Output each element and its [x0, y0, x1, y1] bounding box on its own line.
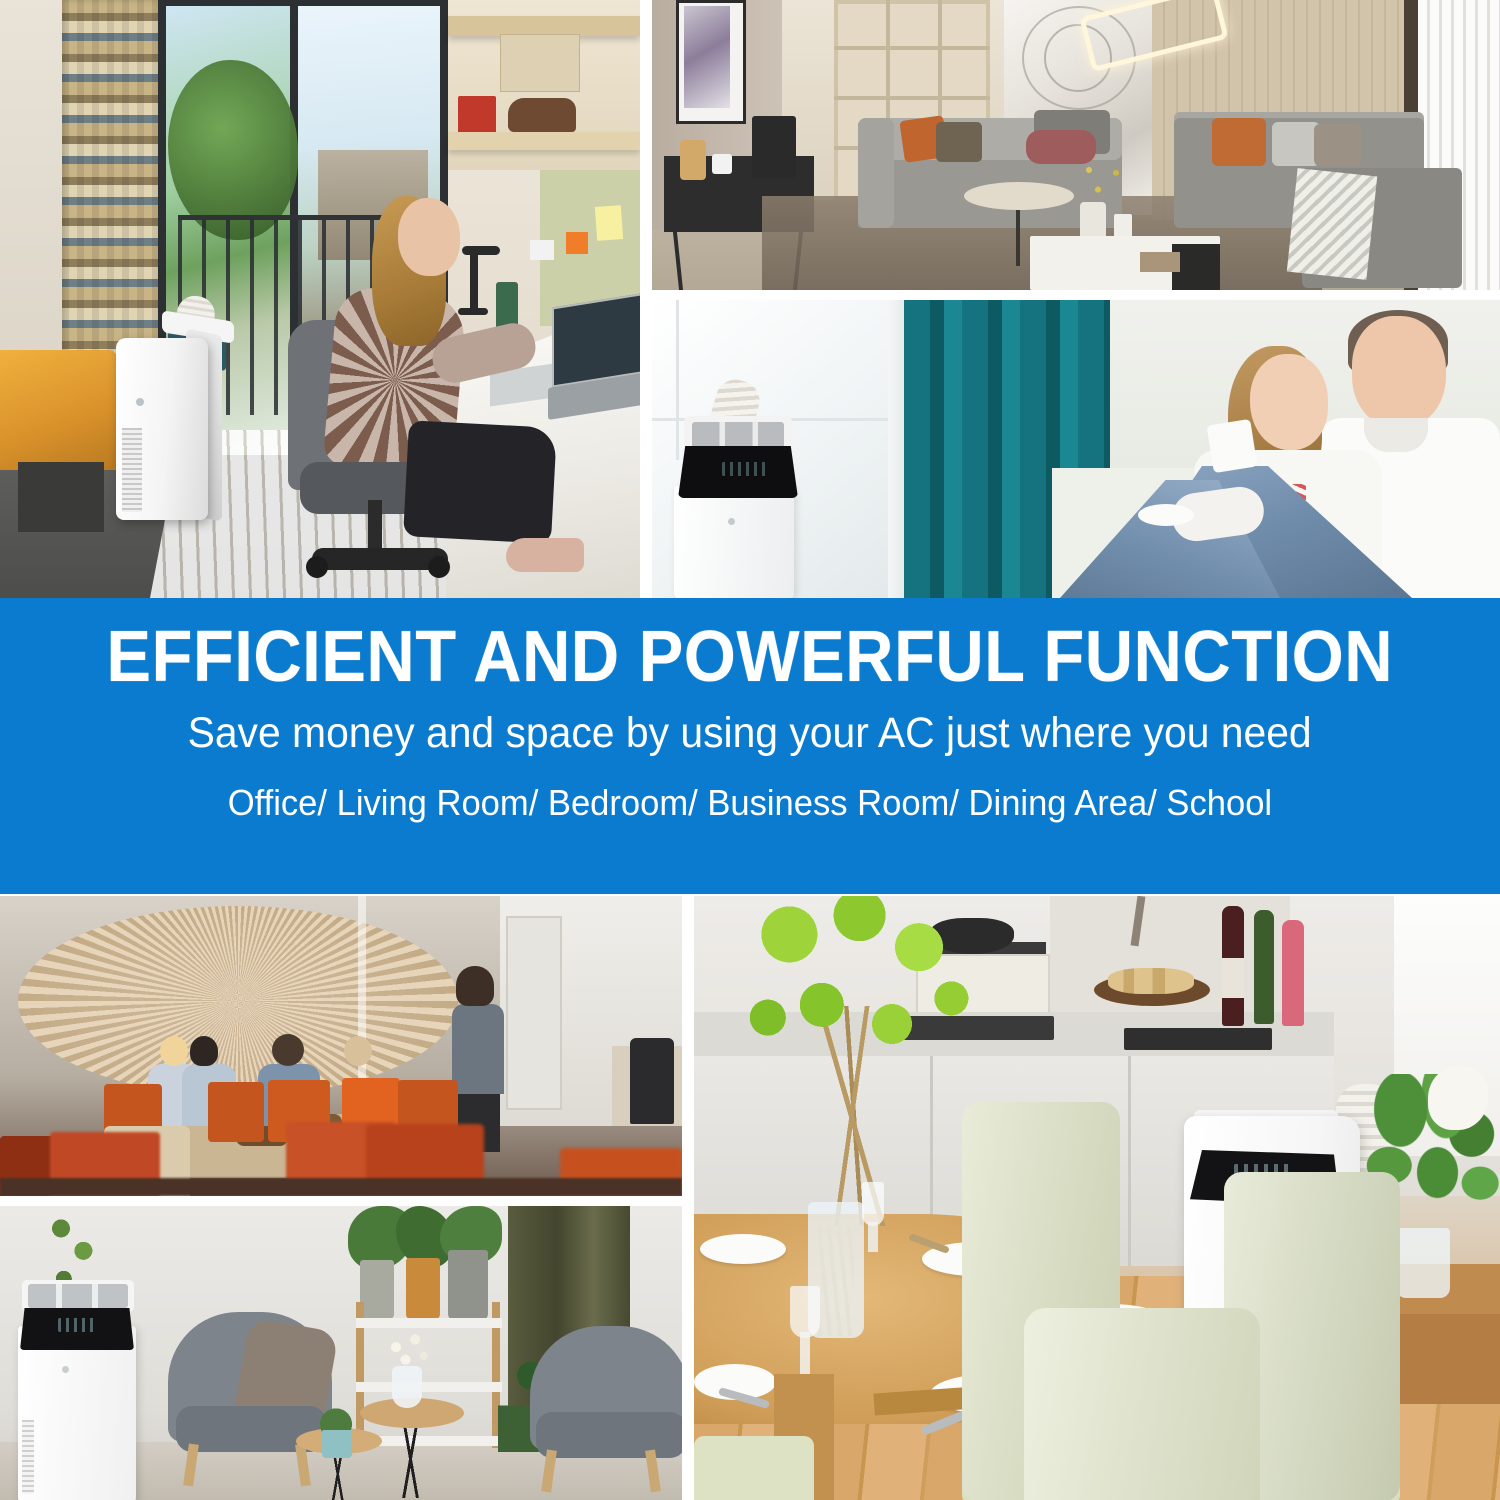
dining-lily-bloom	[1428, 1066, 1488, 1130]
office-shoe	[508, 98, 576, 132]
dining-wine-glass-3-stem	[800, 1332, 810, 1376]
couple-ac-top-louvers	[692, 422, 784, 448]
business-person-2-head	[190, 1036, 218, 1066]
office-shelf-upper	[448, 16, 640, 36]
office-chair-wheel-left	[306, 556, 328, 578]
photo-dining-area	[694, 896, 1500, 1500]
dining-cabinet-seam-2	[1128, 1056, 1131, 1266]
business-door	[506, 916, 562, 1110]
lounge-ac-vent-grille	[22, 1420, 34, 1494]
photo-couple-relaxing	[652, 300, 1500, 598]
business-foreground-table	[0, 1178, 682, 1196]
office-person-head	[398, 198, 460, 276]
dining-chair-bottom-left	[694, 1436, 814, 1500]
business-person-4-head	[344, 1036, 372, 1066]
dining-bread-loaves	[1108, 968, 1194, 994]
dining-green-blossoms	[730, 896, 1000, 1216]
living-cushion-light	[1272, 122, 1320, 166]
office-laptop-screen	[552, 292, 640, 387]
living-bookcase-shelf-1	[834, 46, 990, 50]
dining-lily-vase	[1396, 1228, 1450, 1298]
couple-woman-head	[1250, 354, 1328, 450]
photo-living-room	[652, 0, 1500, 290]
office-person-shoe	[506, 538, 584, 572]
dining-counter-dark-inset	[1124, 1028, 1272, 1050]
office-sticky-note-yellow	[595, 205, 623, 241]
living-framed-picture-image	[684, 6, 730, 108]
office-storage-box	[500, 34, 580, 92]
couple-ac-display-icon	[722, 462, 766, 476]
lounge-armchair-right-seat	[536, 1412, 682, 1458]
living-cushion-taupe	[1314, 124, 1362, 166]
living-bookcase-shelf-2	[834, 96, 990, 100]
dining-wine-bottle-label	[1222, 958, 1244, 998]
lounge-plant-pot-1	[360, 1260, 394, 1320]
dining-wine-glass-1-stem	[868, 1222, 878, 1252]
living-cup	[712, 154, 732, 174]
living-sofa-left-arm	[858, 118, 894, 228]
couple-mug	[1207, 419, 1258, 473]
product-marketing-image: EFFICIENT AND POWERFUL FUNCTION Save mon…	[0, 0, 1500, 1500]
business-orange-chair-2	[208, 1082, 264, 1142]
lounge-plant-pot-3	[448, 1250, 488, 1320]
photo-lounge	[0, 1206, 682, 1500]
photo-office	[0, 0, 640, 598]
office-desk-lamp-base	[458, 308, 488, 315]
couple-ac-indicator-icon	[728, 518, 735, 525]
lounge-succulent-pot	[322, 1430, 352, 1458]
living-cushion-textured	[936, 122, 982, 162]
living-striped-throw	[1287, 168, 1377, 280]
office-desk-lamp-stem	[470, 250, 478, 310]
office-desk-lamp-head	[462, 246, 500, 255]
banner-subline: Save money and space by using your AC ju…	[188, 710, 1312, 756]
dining-wine-glass-1	[862, 1182, 884, 1226]
office-sticky-note-orange	[566, 232, 588, 254]
banner-tagline: Office/ Living Room/ Bedroom/ Business R…	[228, 784, 1272, 822]
dining-wine-glass-3	[790, 1286, 820, 1338]
office-bed	[0, 350, 118, 470]
lounge-plant-pot-2	[406, 1258, 440, 1320]
living-table-books	[1140, 252, 1180, 272]
dining-wine-bottle-rose	[1282, 920, 1304, 1026]
couple-window-mullion-vertical	[676, 300, 679, 460]
dining-chair-foreground-shading	[1024, 1308, 1260, 1500]
business-person-1-head	[160, 1036, 188, 1066]
dining-plate-1	[700, 1234, 786, 1264]
living-round-side-table	[964, 182, 1074, 210]
lounge-glass-vase	[392, 1366, 422, 1408]
lounge-table-legs-large	[382, 1420, 442, 1498]
office-ac-vent-grille	[122, 428, 142, 512]
office-person-legs	[403, 420, 557, 544]
couple-ac-body	[674, 486, 794, 598]
lounge-shelf-1	[356, 1318, 502, 1328]
business-person-5-body	[452, 1004, 504, 1094]
business-person-5-head	[456, 966, 494, 1006]
couple-man-collar	[1364, 418, 1428, 452]
office-chair-wheel-right	[428, 556, 450, 578]
banner-headline: EFFICIENT AND POWERFUL FUNCTION	[107, 620, 1394, 694]
couple-saucer	[1138, 504, 1194, 526]
lounge-shelf-2	[356, 1382, 502, 1392]
lounge-ac-display-icon	[58, 1318, 98, 1332]
office-ac-indicator-icon	[136, 398, 144, 406]
lounge-ac-body	[18, 1326, 136, 1500]
lounge-ac-indicator-icon	[62, 1366, 69, 1373]
business-coat	[630, 1038, 674, 1124]
living-coffee-machine	[752, 116, 796, 178]
promo-banner: EFFICIENT AND POWERFUL FUNCTION Save mon…	[0, 598, 1500, 894]
living-glass-jar	[680, 140, 706, 180]
lounge-ac-top-louvers	[28, 1284, 128, 1308]
office-bed-frame	[18, 462, 104, 532]
dining-wine-bottle-green	[1254, 910, 1274, 1024]
office-shelf-lower	[448, 132, 640, 150]
photo-business-room	[0, 896, 682, 1196]
couple-man-head	[1352, 316, 1446, 428]
living-cushion-orange-2	[1212, 118, 1266, 166]
business-nest-wall-art	[18, 906, 458, 1096]
office-pinned-paper	[530, 240, 554, 260]
business-person-3-head	[272, 1034, 304, 1066]
